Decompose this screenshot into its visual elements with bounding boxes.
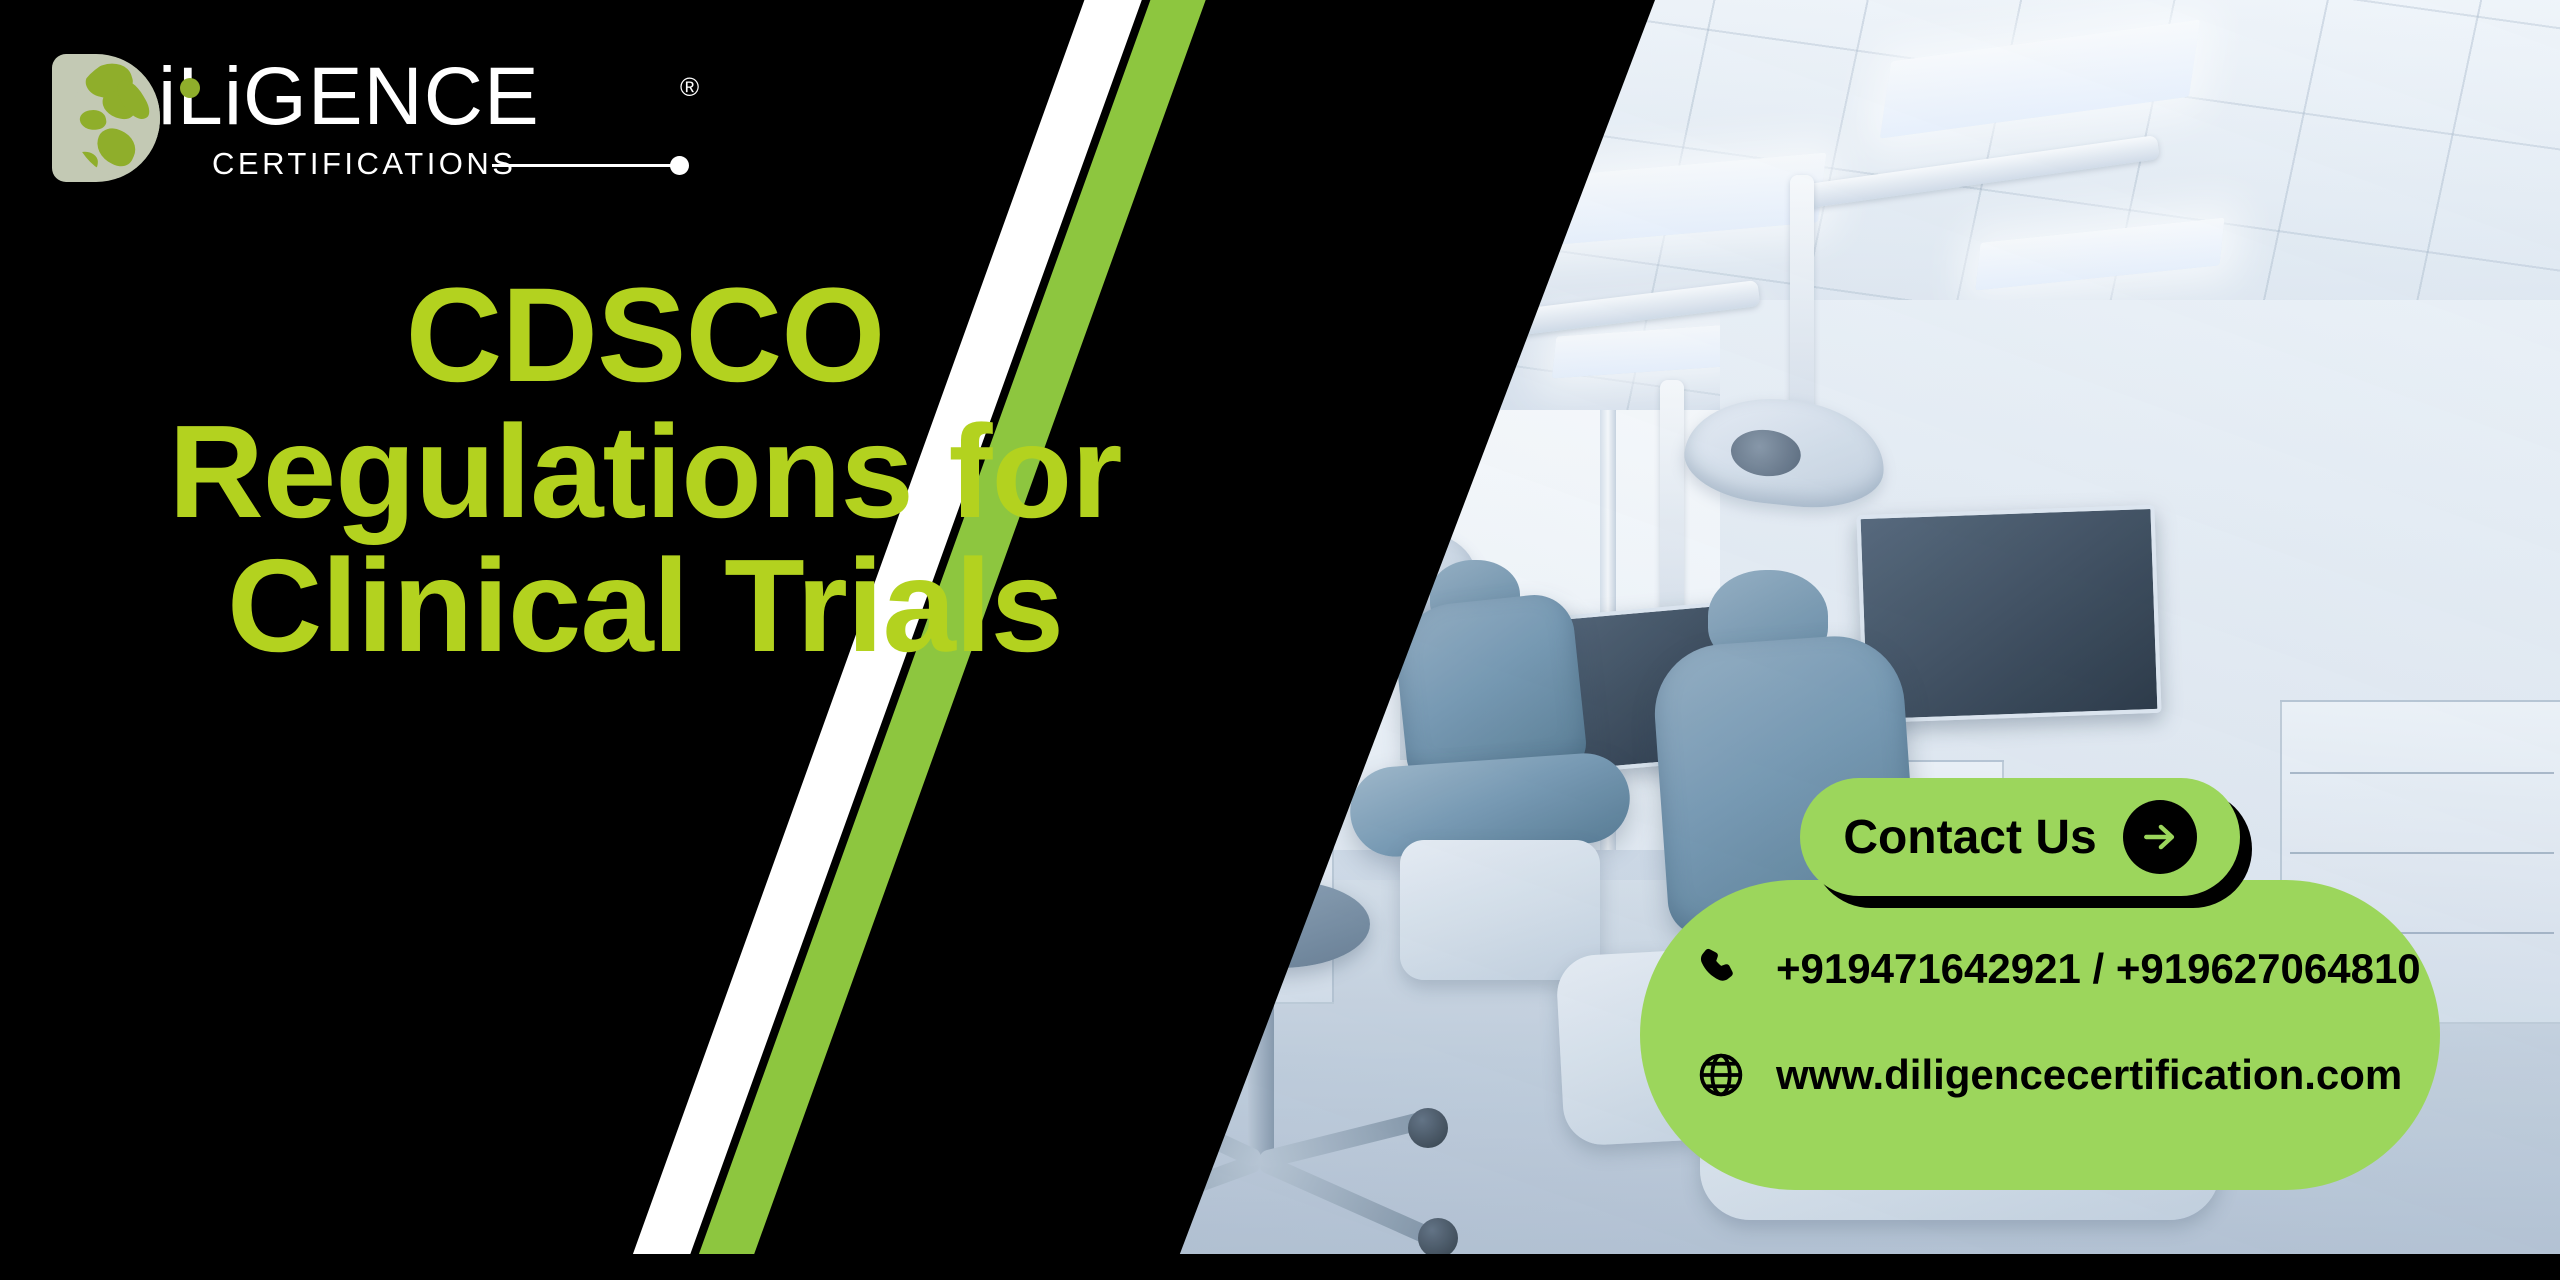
ceiling-vent: [1293, 31, 1520, 131]
phone-icon: [1694, 942, 1748, 996]
contact-phone-number: +919471642921 / +919627064810: [1776, 945, 2421, 993]
globe-landmass: [91, 123, 141, 170]
arrow-right-icon: [2123, 800, 2197, 874]
stool-caster: [1100, 1182, 1134, 1222]
logo-subtitle: CERTIFICATIONS: [212, 146, 516, 182]
logo-i-dot-accent-icon: [180, 78, 200, 98]
page-title: CDSCO Regulations for Clinical Trials: [0, 268, 1290, 674]
contact-phone-row[interactable]: +919471642921 / +919627064810: [1694, 942, 2421, 996]
globe-icon: [1694, 1048, 1748, 1102]
contact-us-button-label: Contact Us: [1843, 810, 2096, 865]
contact-website-url: www.diligencecertification.com: [1776, 1051, 2402, 1099]
stool-caster: [1126, 1086, 1166, 1126]
globe-landmass: [79, 108, 108, 131]
bottom-black-bar: [0, 1254, 2560, 1280]
equipment-arm: [1386, 319, 1440, 550]
logo-globe-icon: [72, 56, 160, 180]
contact-info-card: +919471642921 / +919627064810 www.dilige…: [1640, 880, 2440, 1190]
logo-d-mark-icon: [52, 54, 160, 182]
drawer-line: [1110, 860, 1324, 862]
contact-website-row[interactable]: www.diligencecertification.com: [1694, 1048, 2402, 1102]
headline-line-2: Regulations for: [0, 405, 1290, 540]
promo-banner: iLiGENCE ® CERTIFICATIONS CDSCO Regulati…: [0, 0, 2560, 1280]
drawer-line: [1110, 920, 1324, 922]
globe-landmass: [75, 151, 99, 172]
headline-line-1: CDSCO: [0, 268, 1290, 405]
headline-line-3: Clinical Trials: [0, 539, 1290, 674]
stool-backrest: [1114, 691, 1256, 803]
logo-rule-line: [492, 164, 678, 167]
registered-trademark-icon: ®: [680, 72, 699, 103]
logo-rule-end-dot-icon: [670, 156, 689, 175]
brand-logo[interactable]: iLiGENCE ® CERTIFICATIONS: [52, 48, 692, 188]
contact-us-button[interactable]: Contact Us: [1800, 778, 2240, 896]
logo-wordmark: iLiGENCE: [158, 56, 540, 138]
